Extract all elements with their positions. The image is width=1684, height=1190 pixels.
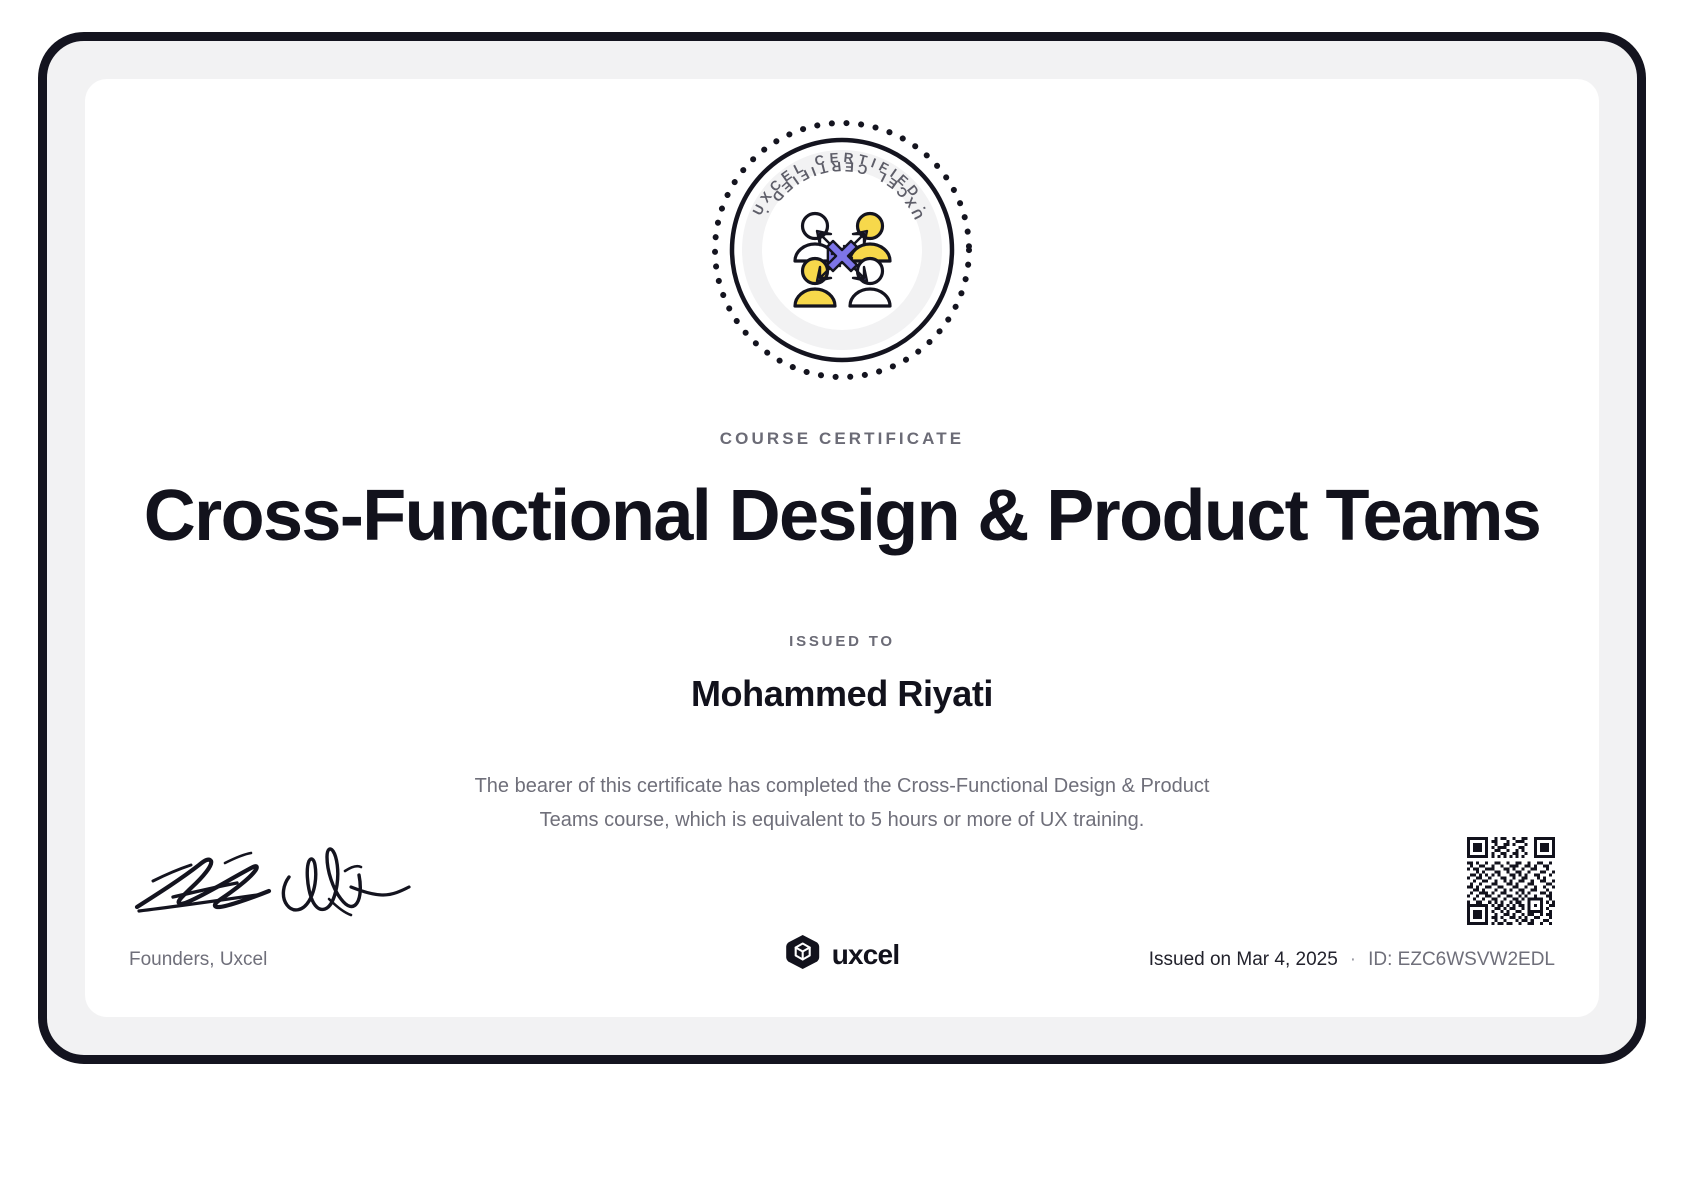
uxcel-certified-badge: UXCEL CERTIFIED · UXCEL CERTIFIED · [707,115,977,385]
signature-founder-1 [137,853,269,911]
signatures-group [129,841,429,921]
certificate-card: UXCEL CERTIFIED · UXCEL CERTIFIED · [85,79,1599,1017]
issued-to-label: ISSUED TO [85,633,1599,650]
brand-wordmark: uxcel [832,939,900,971]
verification-qr-code[interactable] [1467,837,1555,925]
certificate-description: The bearer of this certificate has compl… [447,769,1237,837]
uxcel-cube-logo [785,934,821,975]
certificate-id: ID: EZC6WSVW2EDL [1368,949,1555,971]
meta-separator: · [1350,949,1356,971]
founders-label: Founders, Uxcel [129,949,267,971]
course-title: Cross-Functional Design & Product Teams [85,479,1599,555]
certificate-meta: Issued on Mar 4, 2025 · ID: EZC6WSVW2EDL [1149,949,1555,971]
uxcel-brand-logo: uxcel [785,934,900,975]
signature-founder-2 [283,849,409,915]
certificate-frame: UXCEL CERTIFIED · UXCEL CERTIFIED · [38,32,1646,1064]
issued-on-date: Issued on Mar 4, 2025 [1149,949,1338,971]
kicker-label: COURSE CERTIFICATE [85,429,1599,449]
recipient-name: Mohammed Riyati [85,673,1599,715]
